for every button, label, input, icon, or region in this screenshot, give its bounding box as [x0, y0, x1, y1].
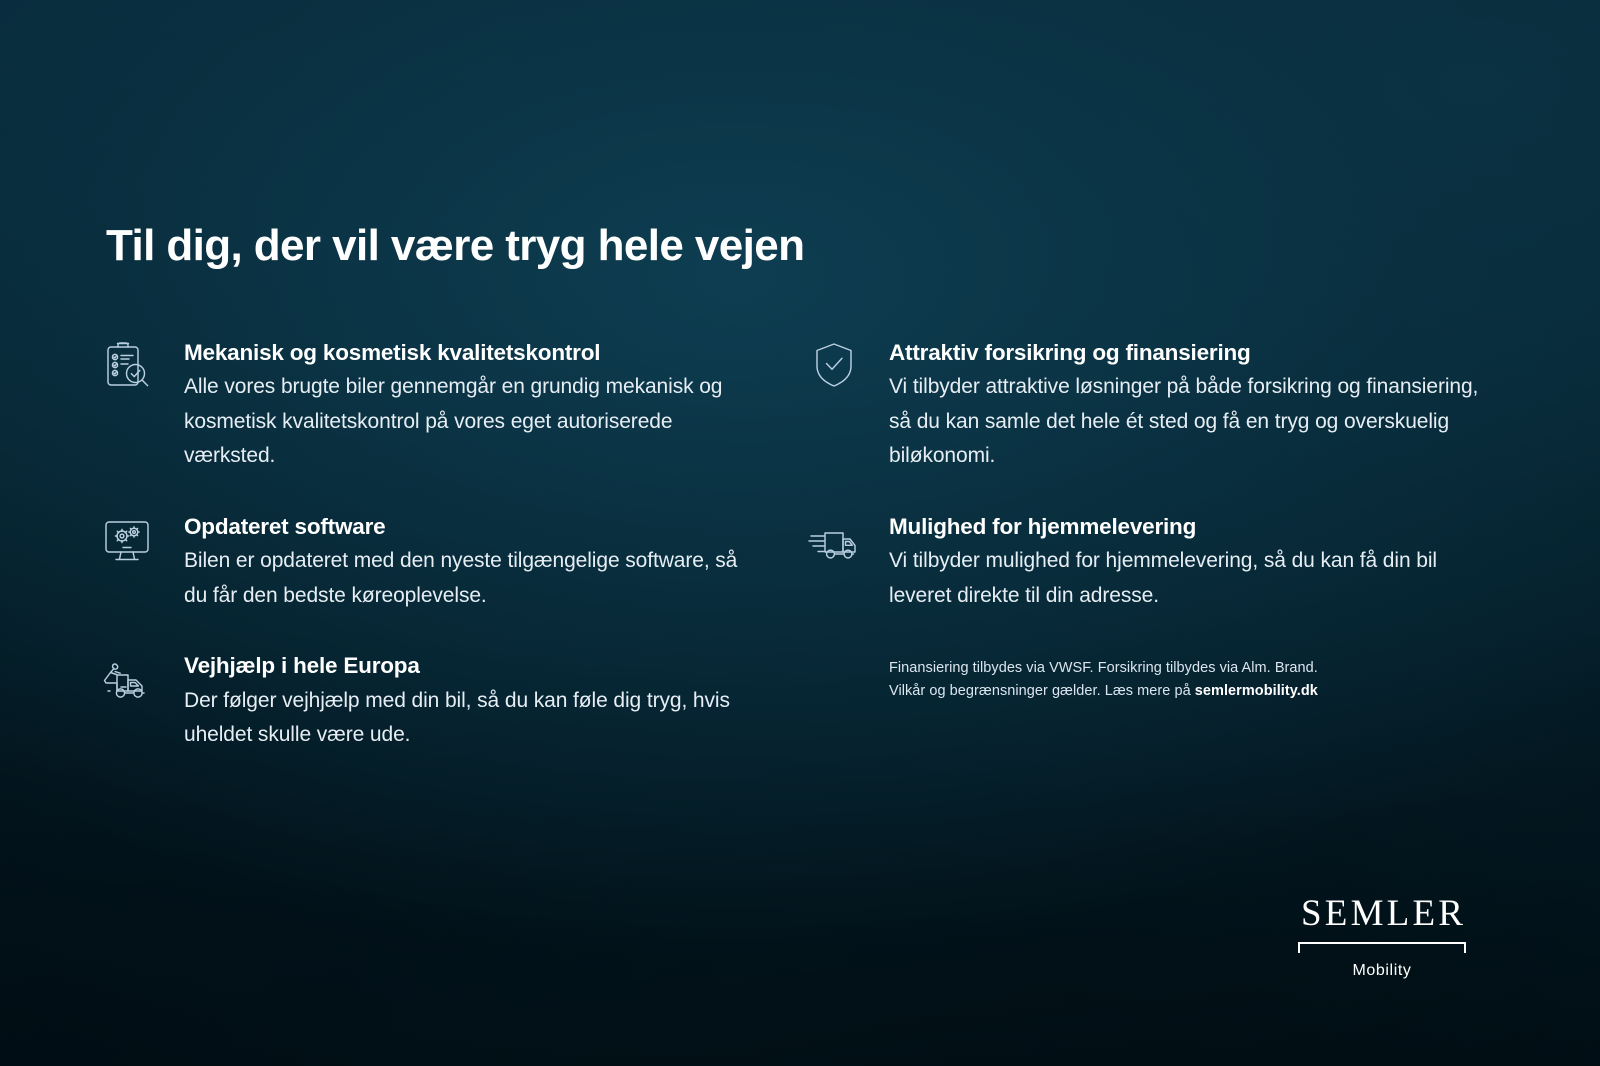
- disclaimer-line-2-text: Vilkår og begrænsninger gælder. Læs mere…: [889, 683, 1195, 699]
- feature-item: Vejhjælp i hele Europa Der følger vejhjæ…: [100, 651, 760, 752]
- disclaimer-link[interactable]: semlermobility.dk: [1195, 683, 1318, 699]
- feature-item: Mekanisk og kosmetisk kvalitetskontrol A…: [100, 338, 760, 474]
- feature-body: Bilen er opdateret med den nyeste tilgæn…: [184, 544, 760, 613]
- logo-subtitle: Mobility: [1298, 962, 1466, 980]
- disclaimer-line-1: Finansiering tilbydes via VWSF. Forsikri…: [889, 657, 1449, 679]
- feature-item: Attraktiv forsikring og finansiering Vi …: [805, 338, 1485, 474]
- promo-panel: Til dig, der vil være tryg hele vejen: [0, 0, 1600, 1066]
- logo-wordmark: SEMLER: [1298, 895, 1466, 932]
- feature-title: Mulighed for hjemmelevering: [889, 513, 1485, 540]
- tow-truck-icon: [100, 653, 158, 711]
- shield-check-icon: [805, 340, 863, 398]
- monitor-gears-icon: [100, 514, 158, 572]
- features-column-right: Attraktiv forsikring og finansiering Vi …: [805, 338, 1485, 702]
- feature-text: Vejhjælp i hele Europa Der følger vejhjæ…: [184, 651, 760, 752]
- semler-mobility-logo: SEMLER Mobility: [1298, 895, 1466, 980]
- feature-text: Attraktiv forsikring og finansiering Vi …: [889, 338, 1485, 474]
- disclaimer-line-2: Vilkår og begrænsninger gælder. Læs mere…: [889, 680, 1449, 702]
- disclaimer: Finansiering tilbydes via VWSF. Forsikri…: [889, 657, 1449, 702]
- logo-bracket-rule: [1298, 942, 1466, 955]
- feature-item: Opdateret software Bilen er opdateret me…: [100, 512, 760, 613]
- feature-body: Vi tilbyder mulighed for hjemmelevering,…: [889, 544, 1485, 613]
- feature-body: Der følger vejhjælp med din bil, så du k…: [184, 684, 760, 753]
- feature-title: Opdateret software: [184, 513, 760, 540]
- feature-body: Vi tilbyder attraktive løsninger på både…: [889, 370, 1485, 473]
- features-column-left: Mekanisk og kosmetisk kvalitetskontrol A…: [100, 338, 760, 752]
- feature-item: Mulighed for hjemmelevering Vi tilbyder …: [805, 512, 1485, 613]
- feature-text: Mulighed for hjemmelevering Vi tilbyder …: [889, 512, 1485, 613]
- feature-title: Attraktiv forsikring og finansiering: [889, 339, 1485, 366]
- clipboard-checklist-magnifier-icon: [100, 340, 158, 398]
- page-title: Til dig, der vil være tryg hele vejen: [106, 220, 804, 272]
- feature-title: Mekanisk og kosmetisk kvalitetskontrol: [184, 339, 760, 366]
- feature-body: Alle vores brugte biler gennemgår en gru…: [184, 370, 760, 473]
- feature-text: Mekanisk og kosmetisk kvalitetskontrol A…: [184, 338, 760, 474]
- feature-text: Opdateret software Bilen er opdateret me…: [184, 512, 760, 613]
- feature-title: Vejhjælp i hele Europa: [184, 652, 760, 679]
- delivery-truck-icon: [805, 514, 863, 572]
